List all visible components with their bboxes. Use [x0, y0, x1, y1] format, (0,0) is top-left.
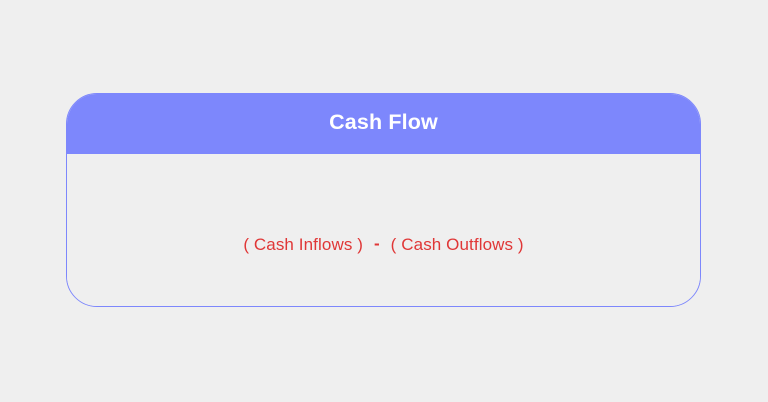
card-header: Cash Flow: [66, 93, 701, 154]
cash-flow-formula: ( Cash Inflows ) - ( Cash Outflows ): [243, 236, 523, 253]
formula-left-term: ( Cash Inflows ): [243, 236, 363, 253]
page-canvas: Cash Flow ( Cash Inflows ) - ( Cash Outf…: [0, 0, 768, 402]
cash-flow-card: Cash Flow ( Cash Inflows ) - ( Cash Outf…: [66, 93, 701, 307]
formula-right-term: ( Cash Outflows ): [391, 236, 524, 253]
formula-minus-operator: -: [363, 235, 391, 252]
card-body: ( Cash Inflows ) - ( Cash Outflows ): [67, 154, 700, 306]
card-title: Cash Flow: [329, 112, 438, 134]
